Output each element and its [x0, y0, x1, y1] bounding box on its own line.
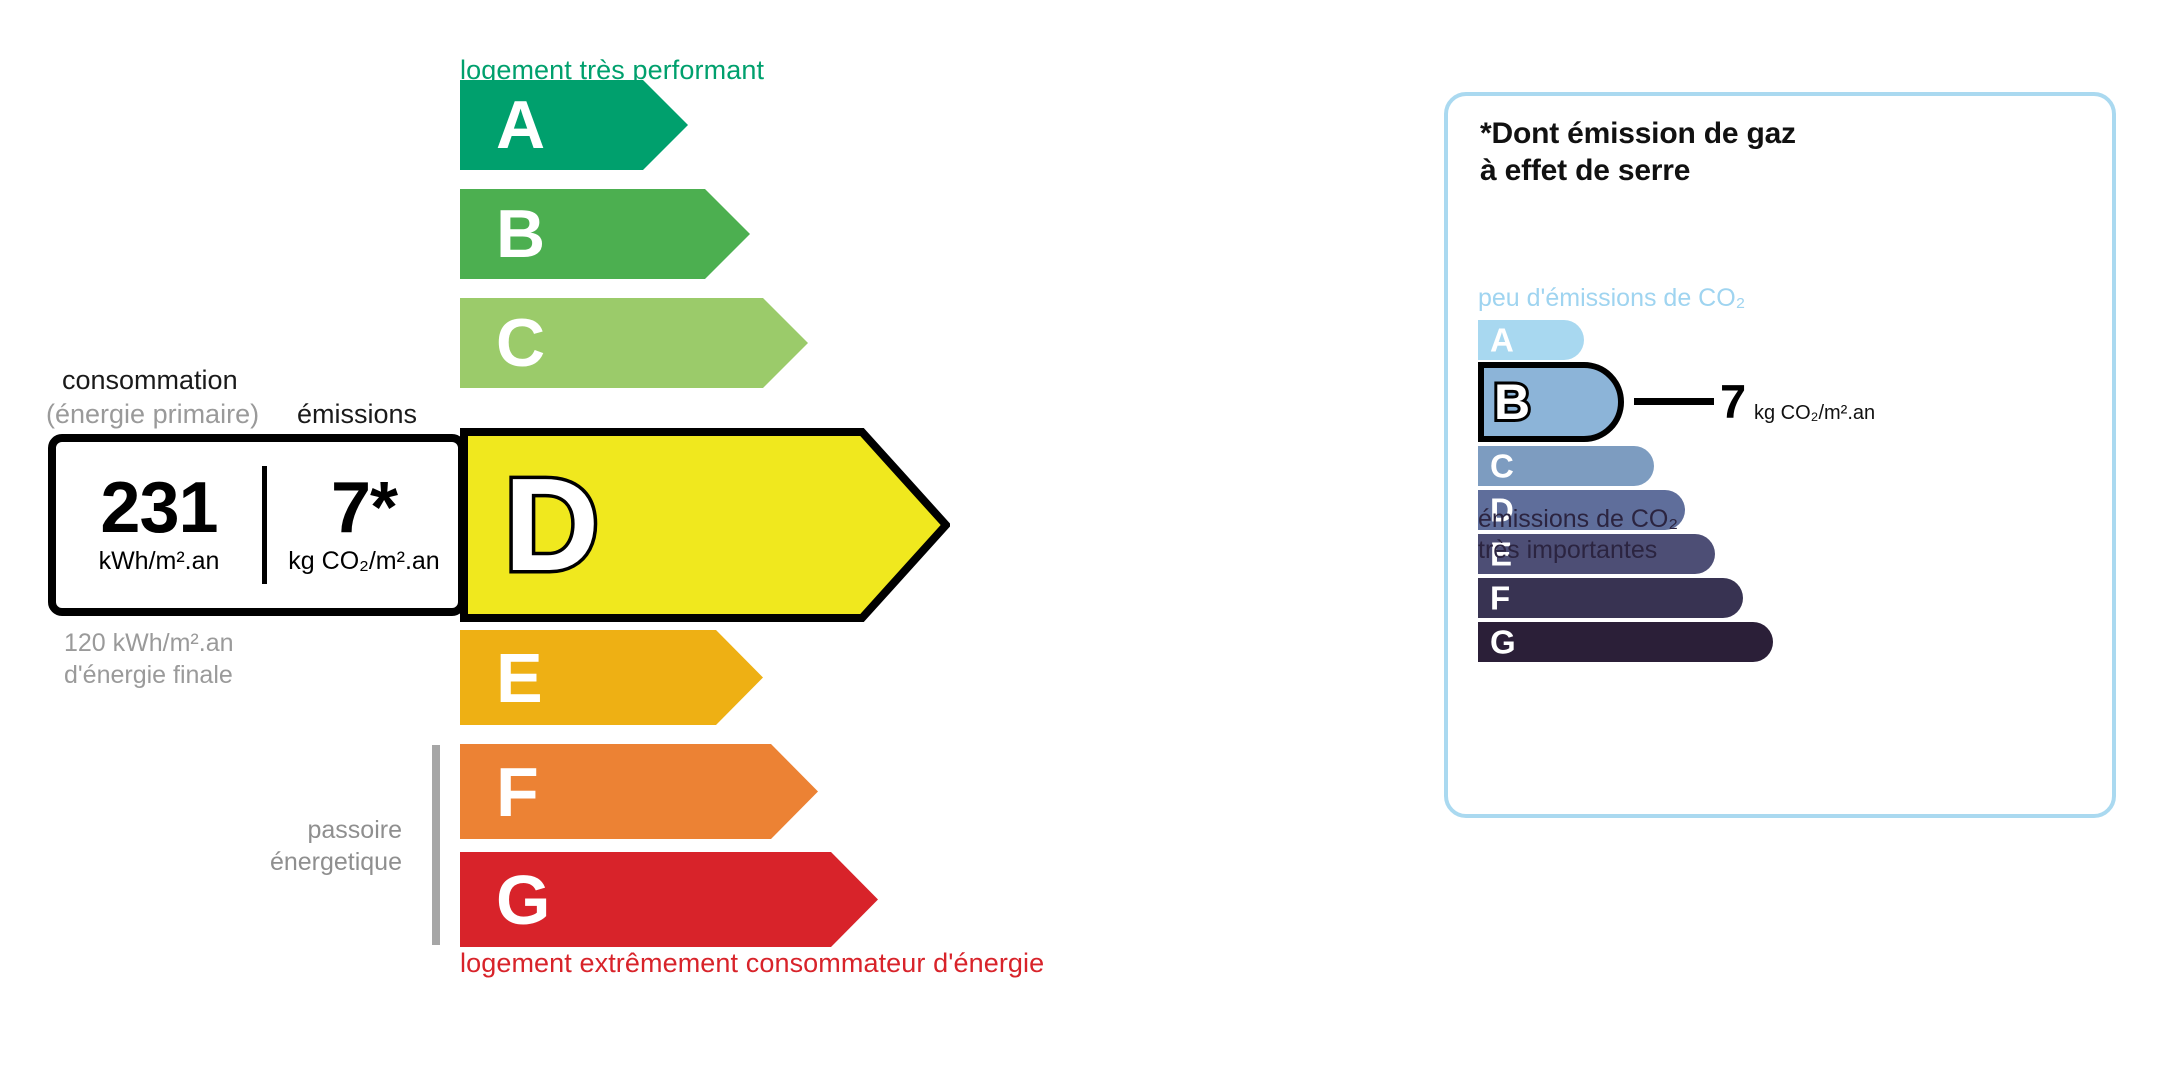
value-box: 231 kWh/m².an 7* kg CO₂/m².an [48, 434, 466, 616]
energy-band-b-letter: B [496, 200, 545, 268]
co2-title-line2: à effet de serre [1480, 153, 1796, 190]
label-emissions: émissions [297, 399, 417, 430]
co2-row-c[interactable]: C [1478, 446, 1654, 486]
energy-band-d-selected[interactable]: D [460, 428, 950, 622]
co2-row-b-selected[interactable]: B [1478, 362, 1624, 442]
passoire-line1: passoire [0, 815, 402, 847]
co2-row-a-letter: A [1490, 324, 1514, 357]
energy-band-a[interactable]: A [460, 80, 688, 170]
final-energy-line1: 120 kWh/m².an [64, 628, 234, 660]
energy-performance-scale: logement très performant A B C D E [0, 0, 1330, 1079]
final-energy-line2: d'énergie finale [64, 660, 234, 692]
emission-value: 7* [331, 476, 397, 541]
passoire-bracket [432, 745, 440, 945]
energy-band-a-letter: A [496, 91, 545, 159]
co2-value: 7 [1720, 378, 1746, 425]
emission-cell: 7* kg CO₂/m².an [266, 442, 462, 608]
co2-row-g[interactable]: G [1478, 622, 1773, 662]
energy-band-e[interactable]: E [460, 630, 763, 725]
label-consommation: consommation [62, 365, 238, 396]
emission-unit: kg CO₂/m².an [288, 549, 439, 574]
co2-row-g-bar [1478, 622, 1773, 662]
co2-top-caption: peu d'émissions de CO₂ [1478, 284, 1745, 313]
energy-band-g[interactable]: G [460, 852, 878, 947]
scale-bottom-caption: logement extrêmement consommateur d'éner… [460, 948, 1044, 979]
consumption-cell: 231 kWh/m².an [56, 442, 262, 608]
co2-leader-line [1634, 398, 1714, 405]
co2-row-f-letter: F [1490, 582, 1510, 615]
co2-bottom-line1: émissions de CO₂ [1478, 504, 1678, 535]
label-energie-primaire: (énergie primaire) [46, 399, 259, 430]
energy-band-b[interactable]: B [460, 189, 750, 279]
consumption-value: 231 [100, 476, 217, 541]
energy-band-e-letter: E [496, 643, 543, 713]
final-energy-note: 120 kWh/m².an d'énergie finale [64, 628, 234, 691]
co2-row-f-bar [1478, 578, 1743, 618]
energy-band-c[interactable]: C [460, 298, 808, 388]
co2-panel-title: *Dont émission de gaz à effet de serre [1480, 116, 1796, 189]
energy-band-g-letter: G [496, 865, 550, 935]
energy-band-c-letter: C [496, 309, 545, 377]
energy-band-d-letter: D [504, 459, 599, 591]
co2-emissions-panel: *Dont émission de gaz à effet de serre p… [1444, 92, 2116, 818]
co2-row-b-letter: B [1494, 377, 1530, 427]
co2-title-line1: *Dont émission de gaz [1480, 116, 1796, 153]
consumption-unit: kWh/m².an [99, 549, 220, 574]
co2-row-g-letter: G [1490, 626, 1516, 659]
energy-band-f[interactable]: F [460, 744, 818, 839]
energy-band-f-letter: F [496, 757, 539, 827]
co2-row-a[interactable]: A [1478, 320, 1584, 360]
co2-value-unit: kg CO₂/m².an [1754, 403, 1875, 423]
co2-bottom-line2: très importantes [1478, 535, 1678, 566]
co2-row-c-letter: C [1490, 450, 1514, 483]
co2-row-f[interactable]: F [1478, 578, 1743, 618]
passoire-line2: énergetique [0, 847, 402, 879]
passoire-energetique-label: passoire énergetique [0, 815, 402, 878]
energy-band-a-shape [460, 80, 688, 170]
co2-bottom-caption: émissions de CO₂ très importantes [1478, 504, 1678, 567]
